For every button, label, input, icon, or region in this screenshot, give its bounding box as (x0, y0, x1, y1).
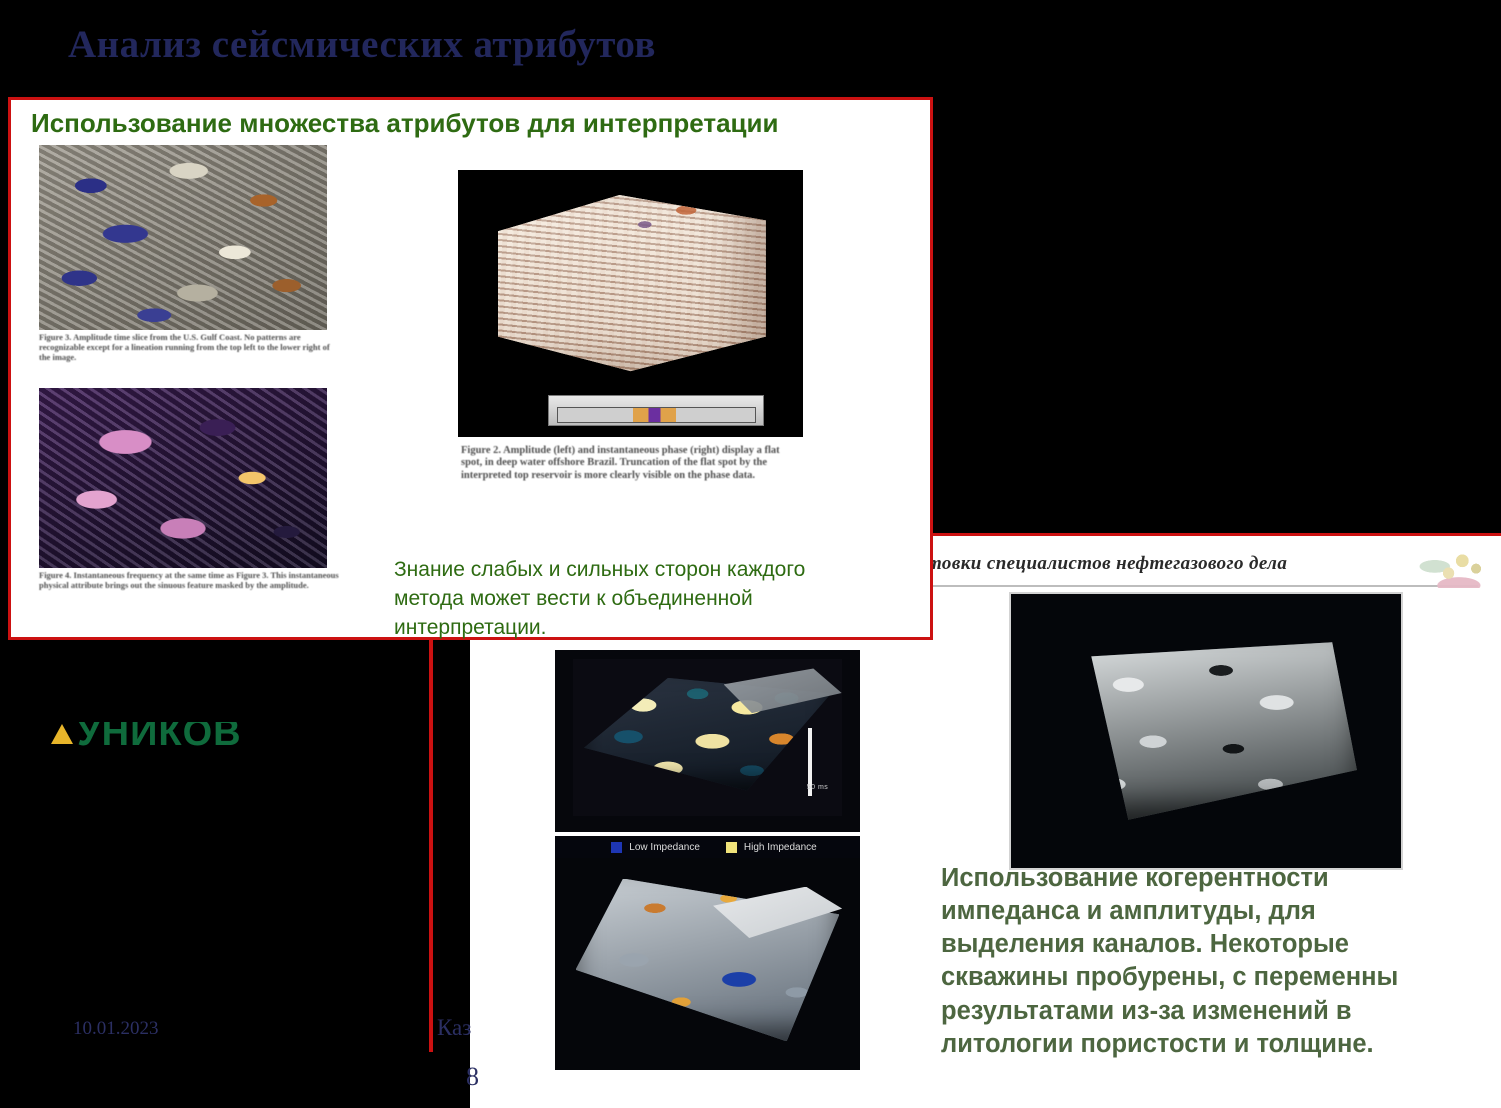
footer-page-number: 8 (466, 1062, 479, 1092)
coherence-description-line-4: скважины пробурены, с переменны (941, 961, 1501, 994)
institution-banner: товки специалистов нефтегазового дела (933, 544, 1501, 588)
coherence-description-line-3: выделения каналов. Некоторые (941, 928, 1501, 961)
figure-coherence-cube (1009, 592, 1403, 870)
interpretation-note-line-2: метода может вести к объединенной (394, 585, 904, 614)
color-scale-gradient (557, 407, 756, 423)
interpretation-note: Знание слабых и сильных сторон каждого м… (394, 556, 904, 643)
legend-item-high-impedance: High Impedance (726, 842, 817, 853)
red-divider-rule (429, 640, 433, 1052)
legend-swatch-high-impedance (726, 842, 737, 853)
figure-impedance-cube: 50 ms (555, 650, 860, 832)
panel-a-heading: Использование множества атрибутов для ин… (31, 108, 778, 139)
coherence-description-line-6: литологии пористости и толщине. (941, 1028, 1501, 1061)
figure-amplitude-time-slice (39, 145, 327, 330)
impedance-cube-graphic: 50 ms (573, 659, 841, 816)
coherence-description: Использование когерентности импеданса и … (941, 862, 1501, 1061)
impedance-legend: Low Impedance High Impedance (555, 836, 860, 860)
seismic-cube-graphic (493, 191, 769, 373)
slide-root: Анализ сейсмических атрибутов Использова… (0, 0, 1501, 1108)
figure-channel-cube (555, 858, 860, 1070)
legend-label-high-impedance: High Impedance (744, 842, 817, 853)
figure-instantaneous-frequency (39, 388, 327, 568)
logo-fragment-text: УНИКОВ (77, 722, 242, 748)
interpretation-note-line-1: Знание слабых и сильных сторон каждого (394, 556, 904, 585)
figure-instantaneous-frequency-caption: Figure 4. Instantaneous frequency at the… (39, 570, 339, 590)
figure-amplitude-time-slice-caption: Figure 3. Amplitude time slice from the … (39, 332, 339, 362)
page-title: Анализ сейсмических атрибутов (68, 22, 656, 67)
footer-organization: Каз (437, 1015, 471, 1041)
coherence-description-line-1: Использование когерентности (941, 862, 1501, 895)
coherence-description-line-5: результатами из-за изменений в (941, 995, 1501, 1028)
figure-amplitude-phase-cube-caption: Figure 2. Amplitude (left) and instantan… (461, 445, 801, 482)
color-scale-bar (548, 395, 764, 426)
impedance-legend-bar: Low Impedance High Impedance (573, 836, 841, 858)
panel-coherence: товки специалистов нефтегазового дела Ис… (933, 533, 1501, 1108)
triangle-icon (51, 724, 73, 744)
footer-date: 10.01.2023 (73, 1018, 159, 1040)
legend-item-low-impedance: Low Impedance (611, 842, 700, 853)
ornament-icon (1409, 544, 1495, 588)
banner-divider (933, 585, 1478, 587)
institution-banner-text: товки специалистов нефтегазового дела (933, 553, 1287, 575)
coherence-slab (1048, 642, 1357, 820)
legend-label-low-impedance: Low Impedance (629, 842, 700, 853)
interpretation-note-line-3: интерпретации. (394, 614, 904, 643)
panel-impedance-figures: 50 ms Low Impedance High Impedance (470, 640, 938, 1108)
coherence-description-line-2: импеданса и амплитуды, для (941, 895, 1501, 928)
channel-cube-graphic (567, 862, 848, 1066)
coherence-cube-graphic (1031, 608, 1382, 855)
figure-amplitude-phase-cube (458, 170, 803, 437)
legend-swatch-low-impedance (611, 842, 622, 853)
scale-bar-label: 50 ms (807, 784, 829, 791)
logo-fragment: УНИКОВ (49, 722, 279, 748)
